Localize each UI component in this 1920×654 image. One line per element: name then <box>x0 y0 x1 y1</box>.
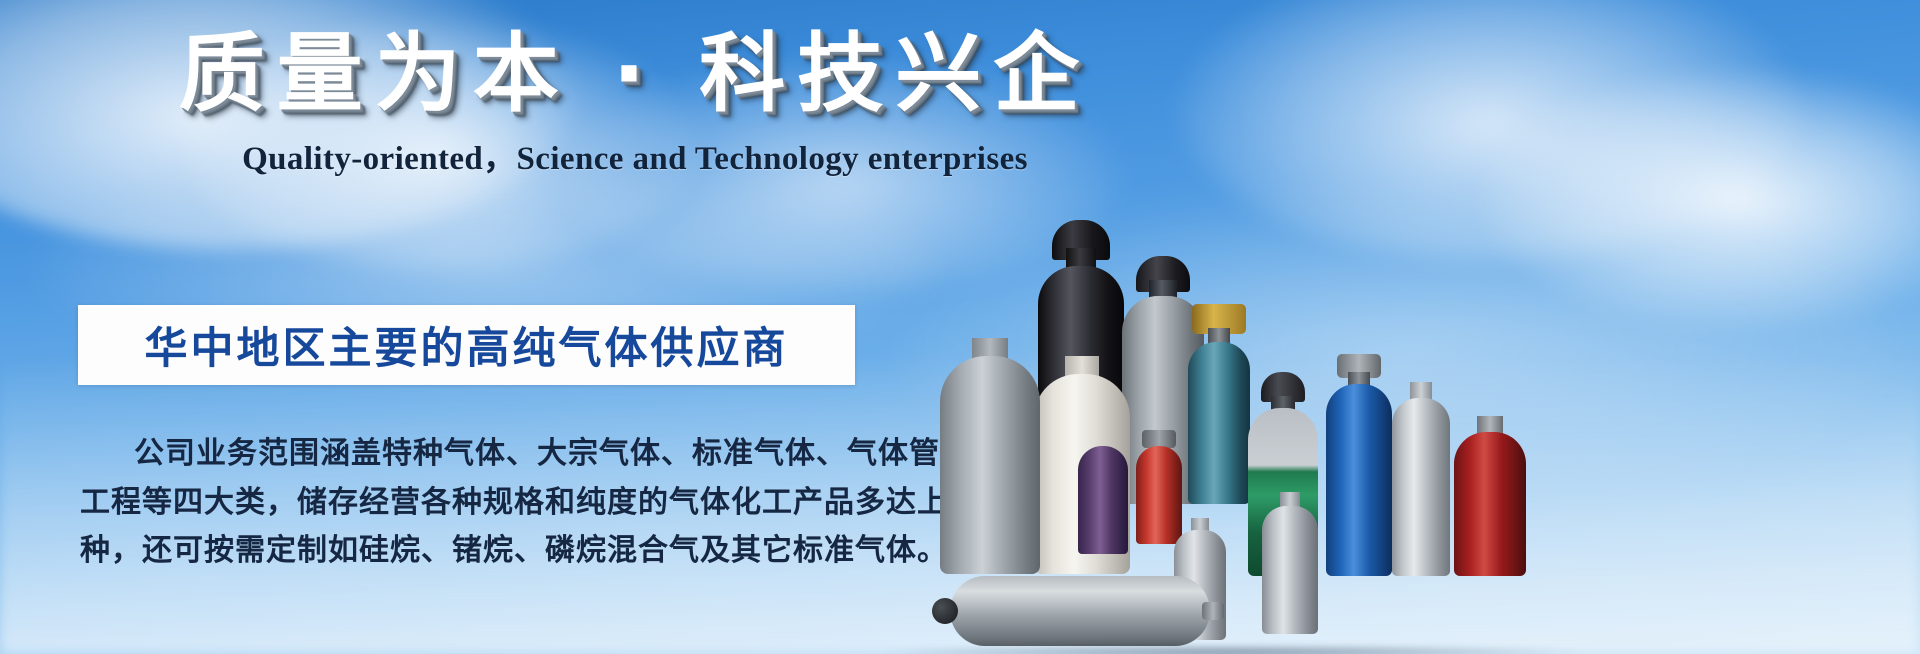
description-paragraph: 公司业务范围涵盖特种气体、大宗气体、标准气体、气体管道 工程等四大类，储存经营各… <box>80 430 870 576</box>
description-line: 种，还可按需定制如硅烷、锗烷、磷烷混合气及其它标准气体。 <box>80 527 870 576</box>
description-line: 工程等四大类，储存经营各种规格和纯度的气体化工产品多达上百 <box>80 479 870 528</box>
slogan-text: 华中地区主要的高纯气体供应商 <box>145 314 789 376</box>
description-line: 公司业务范围涵盖特种气体、大宗气体、标准气体、气体管道 <box>80 430 870 479</box>
dark-red-cylinder <box>1454 420 1526 576</box>
promotional-banner: 质量为本 · 科技兴企 Quality-oriented，Science and… <box>0 0 1920 654</box>
main-title: 质量为本 · 科技兴企 <box>0 24 1270 125</box>
gas-cylinder-group-photo <box>930 150 1920 654</box>
slogan-box: 华中地区主要的高纯气体供应商 <box>78 305 855 385</box>
blue-medium-cylinder <box>1326 364 1392 576</box>
teal-valve-cylinder <box>1188 322 1250 504</box>
horizontal-gray-cylinder <box>950 572 1210 646</box>
gray-large-cylinder <box>940 344 1040 574</box>
silver-small-cylinder <box>1262 494 1318 634</box>
purple-small-cylinder <box>1078 442 1128 554</box>
photo-ground-shadow <box>880 644 1580 654</box>
silver-aluminum-cylinder <box>1392 386 1450 576</box>
